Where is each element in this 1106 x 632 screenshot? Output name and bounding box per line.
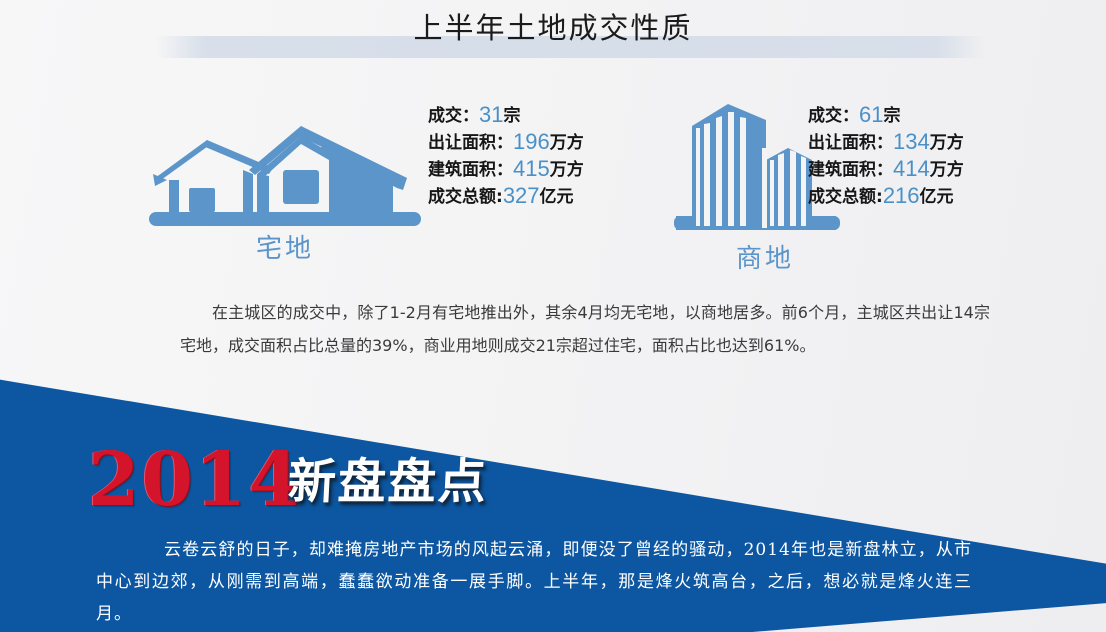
stat-label: 出让面积： — [428, 133, 513, 153]
stats-row: 宅地 成交：31宗 出让面积：196万方 建筑面积：415万方 成交总额:327… — [0, 80, 1106, 285]
stat-unit: 宗 — [883, 106, 900, 126]
stat-line: 建筑面积：414万方 — [808, 156, 1008, 183]
summary-paragraph: 在主城区的成交中，除了1-2月有宅地推出外，其余4月均无宅地，以商地居多。前6个… — [180, 296, 990, 362]
stat-line: 成交：61宗 — [808, 102, 1008, 129]
stat-label: 建筑面积： — [428, 160, 513, 180]
banner-paragraph: 云卷云舒的日子，却难掩房地产市场的风起云涌，即便没了曾经的骚动，2014年也是新… — [96, 534, 972, 630]
stat-unit: 万方 — [550, 133, 584, 153]
stat-value: 31 — [479, 102, 503, 127]
stat-line: 成交总额:327亿元 — [428, 183, 628, 210]
stat-line: 成交总额:216亿元 — [808, 183, 1008, 210]
stat-line: 成交：31宗 — [428, 102, 628, 129]
stat-value: 61 — [859, 102, 883, 127]
stat-value: 134 — [893, 129, 930, 154]
house-icon — [140, 80, 430, 230]
stat-unit: 万方 — [550, 160, 584, 180]
stat-label: 成交： — [428, 106, 479, 126]
stat-unit: 宗 — [503, 106, 520, 126]
stat-label: 成交总额: — [428, 187, 503, 207]
stat-value: 415 — [513, 156, 550, 181]
stat-value: 216 — [883, 183, 920, 208]
stat-value: 414 — [893, 156, 930, 181]
stat-unit: 亿元 — [920, 187, 954, 207]
commercial-stat-list: 成交：61宗 出让面积：134万方 建筑面积：414万方 成交总额:216亿元 — [808, 102, 1008, 210]
stat-unit: 万方 — [930, 160, 964, 180]
stat-label: 出让面积： — [808, 133, 893, 153]
stat-label: 建筑面积： — [808, 160, 893, 180]
stat-label: 成交总额: — [808, 187, 883, 207]
infographic-page: 上半年土地成交性质 — [0, 0, 1106, 632]
stat-panel-residential: 宅地 成交：31宗 出让面积：196万方 建筑面积：415万方 成交总额:327… — [140, 80, 620, 285]
stat-line: 出让面积：134万方 — [808, 129, 1008, 156]
page-title: 上半年土地成交性质 — [0, 8, 1106, 48]
stat-value: 327 — [503, 183, 540, 208]
stat-value: 196 — [513, 129, 550, 154]
stat-line: 出让面积：196万方 — [428, 129, 628, 156]
residential-stat-list: 成交：31宗 出让面积：196万方 建筑面积：415万方 成交总额:327亿元 — [428, 102, 628, 210]
stat-label: 成交： — [808, 106, 859, 126]
stat-unit: 亿元 — [540, 187, 574, 207]
stat-unit: 万方 — [930, 133, 964, 153]
commercial-label: 商地 — [620, 240, 910, 278]
residential-icon-column: 宅地 — [140, 80, 430, 285]
residential-label: 宅地 — [140, 230, 430, 268]
stat-line: 建筑面积：415万方 — [428, 156, 628, 183]
stat-panel-commercial: 商地 成交：61宗 出让面积：134万方 建筑面积：414万方 成交总额:216… — [620, 80, 1100, 285]
